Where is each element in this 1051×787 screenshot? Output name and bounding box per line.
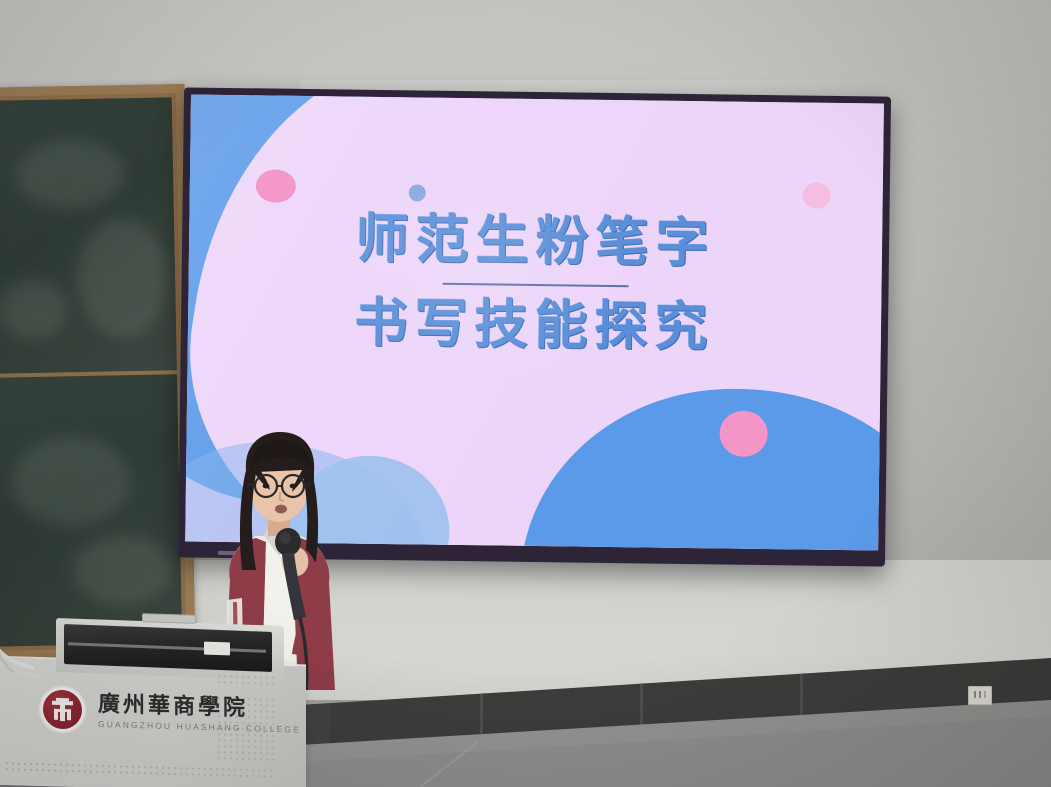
lectern-lid-handle[interactable] [142,613,196,624]
college-name-en: GUANGZHOU HUASHANG COLLEGE [98,720,301,734]
slide-title-line-1: 师范生粉笔字 [189,206,883,278]
college-name-cn: 廣州華商學院 [98,693,301,721]
dot-blue-small-icon [409,184,426,201]
lectern[interactable]: 廣州華商學院 GUANGZHOU HUASHANG COLLEGE [0,604,320,787]
dot-pink-top-left-icon [256,169,296,203]
lectern-label-tag [204,642,230,656]
chalkboard [0,84,195,660]
chalkboard-panel-upper [0,93,181,385]
wall-power-outlet[interactable] [968,686,992,705]
classroom-scene: 师范生粉笔字 书写技能探究 [0,0,1051,787]
lectern-vent-grille-strip [216,673,276,685]
slide-title-line-2: 书写技能探究 [188,290,882,362]
lectern-branding: 廣州華商學院 GUANGZHOU HUASHANG COLLEGE [38,684,301,740]
slide-title: 师范生粉笔字 书写技能探究 [188,206,883,361]
slide-title-divider [442,282,628,286]
college-logo-icon [38,684,87,734]
college-name-block: 廣州華商學院 GUANGZHOU HUASHANG COLLEGE [98,693,301,734]
logo-emblem-icon [43,689,82,729]
dot-pink-top-right-icon [803,183,831,209]
